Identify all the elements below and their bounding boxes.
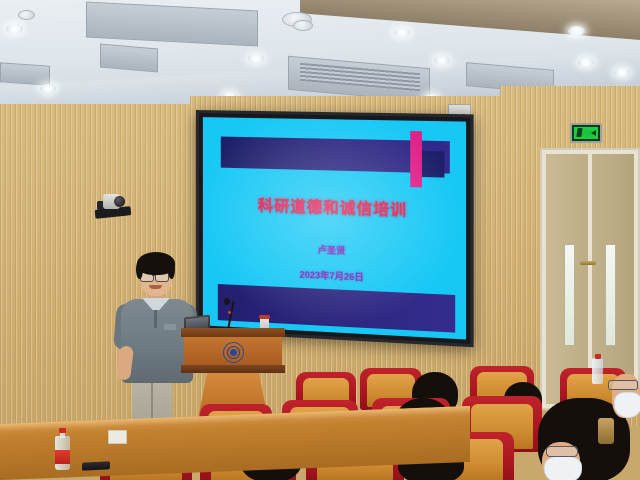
- slide-presenter-name: 卢圣贤: [203, 238, 466, 262]
- door-leaf-left[interactable]: [546, 154, 588, 404]
- slide-title: 科研道德和诚信培训: [203, 192, 466, 222]
- presentation-slide: 科研道德和诚信培训 卢圣贤 2023年7月26日: [203, 117, 466, 339]
- downlight-icon: [248, 54, 264, 63]
- microphone-led-icon: [228, 311, 231, 314]
- emblem-ring: [227, 346, 240, 359]
- institution-emblem-icon: [223, 342, 244, 363]
- hair-clip-icon: [598, 418, 614, 444]
- presenter-shirt-pocket: [164, 324, 176, 330]
- ceiling-vent: [0, 62, 50, 85]
- ptz-camera-icon: [95, 192, 131, 222]
- downlight-icon: [614, 68, 630, 77]
- presenter-hair-side: [136, 260, 143, 279]
- smoke-detector-icon: [18, 10, 35, 20]
- slide-accent-stripe: [410, 131, 422, 187]
- door-glass-panel: [564, 244, 575, 346]
- downlight-icon: [6, 24, 23, 34]
- podium-top: [181, 328, 285, 337]
- bottle-cap: [595, 354, 601, 359]
- presenter-shirt-placket: [154, 308, 157, 328]
- smoke-detector-icon: [293, 20, 313, 31]
- eyeglasses-icon: [608, 380, 638, 390]
- bottle-cap: [59, 428, 66, 433]
- bottle-label: [55, 450, 70, 464]
- ceiling-vent: [100, 43, 158, 72]
- slide-accent-block: [422, 151, 444, 178]
- eyeglasses-icon: [546, 446, 578, 457]
- eyeglasses-bridge: [152, 275, 155, 276]
- face-mask-icon: [544, 456, 582, 480]
- downlight-icon: [394, 28, 410, 37]
- downlight-icon: [568, 26, 585, 36]
- projection-screen: 科研道德和诚信培训 卢圣贤 2023年7月26日: [196, 110, 474, 347]
- cup-lid: [259, 315, 270, 319]
- downlight-icon: [578, 58, 594, 67]
- exit-sign: [570, 123, 602, 143]
- downlight-icon: [434, 56, 450, 65]
- water-bottle: [592, 358, 603, 384]
- camera-lens-icon: [114, 196, 125, 207]
- face-mask-icon: [614, 392, 640, 418]
- auditorium-photo: 科研道德和诚信培训 卢圣贤 2023年7月26日: [0, 0, 640, 480]
- smartphone[interactable]: [82, 461, 110, 470]
- podium-ledge: [181, 365, 285, 373]
- water-bottle[interactable]: [55, 428, 70, 470]
- downlight-icon: [40, 84, 56, 93]
- slide-bottom-bar: [218, 284, 455, 332]
- presenter-mouth: [149, 285, 162, 289]
- slide-date: 2023年7月26日: [203, 263, 466, 288]
- arrow-right-icon: [591, 130, 596, 136]
- door-handle-icon[interactable]: [580, 261, 596, 265]
- presenter-hair-side: [168, 260, 175, 279]
- wall-outlet: [108, 430, 127, 444]
- door-glass-panel: [605, 244, 616, 346]
- microphone-icon: [224, 298, 230, 305]
